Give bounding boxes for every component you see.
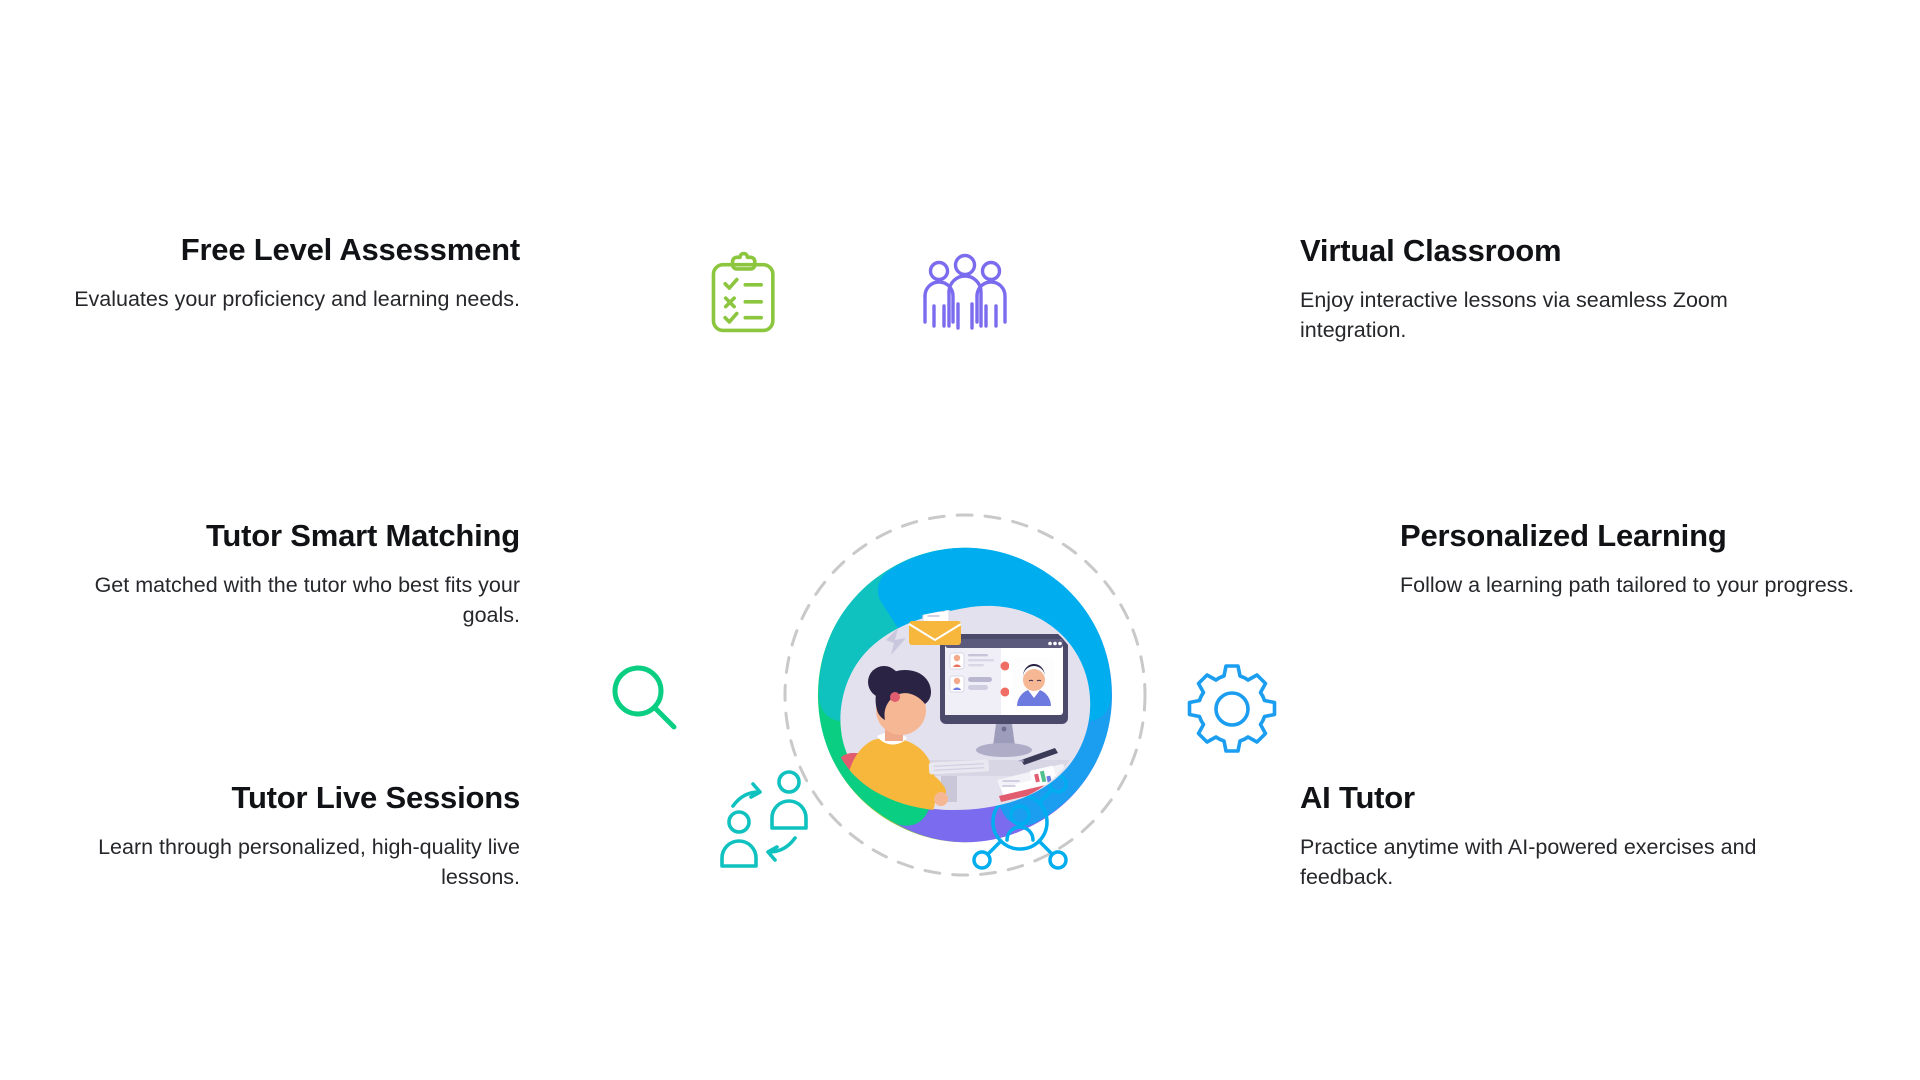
feature-block-free-level-assessment: Free Level Assessment Evaluates your pro… xyxy=(60,232,520,314)
feature-block-ai-tutor: AI Tutor Practice anytime with AI-powere… xyxy=(1300,780,1760,893)
feature-title-free-level-assessment: Free Level Assessment xyxy=(60,232,520,268)
feature-desc-personalized-learning: Follow a learning path tailored to your … xyxy=(1400,570,1860,601)
feature-wheel xyxy=(585,240,1345,900)
feature-desc-tutor-live-sessions: Learn through personalized, high-quality… xyxy=(60,832,520,893)
feature-block-tutor-smart-matching: Tutor Smart Matching Get matched with th… xyxy=(60,518,520,631)
chat-bubble-2 xyxy=(968,685,988,690)
feature-title-tutor-smart-matching: Tutor Smart Matching xyxy=(60,518,520,554)
notification-dot-2 xyxy=(1001,688,1010,697)
magnifying-glass-icon xyxy=(615,668,674,727)
feature-title-personalized-learning: Personalized Learning xyxy=(1400,518,1860,554)
window-dot-3 xyxy=(1058,642,1062,646)
feature-block-virtual-classroom: Virtual Classroom Enjoy interactive less… xyxy=(1300,233,1760,346)
notification-dot-1 xyxy=(1001,662,1010,671)
feature-block-personalized-learning: Personalized Learning Follow a learning … xyxy=(1400,518,1860,600)
infographic-stage: Free Level Assessment Evaluates your pro… xyxy=(0,0,1920,1080)
monitor-titlebar xyxy=(945,639,1063,648)
chat-line-3 xyxy=(968,664,984,666)
two-people-exchange-icon xyxy=(722,772,806,866)
boy-face xyxy=(1023,669,1045,691)
window-dot-2 xyxy=(1053,642,1057,646)
monitor-stand-base xyxy=(976,743,1032,757)
person-hand xyxy=(934,792,948,806)
feature-desc-free-level-assessment: Evaluates your proficiency and learning … xyxy=(60,284,520,315)
chat-line-2 xyxy=(968,659,994,661)
feature-title-virtual-classroom: Virtual Classroom xyxy=(1300,233,1760,269)
chat-line-1 xyxy=(968,654,988,656)
chat-bubble-1 xyxy=(968,677,992,682)
feature-desc-tutor-smart-matching: Get matched with the tutor who best fits… xyxy=(60,570,520,631)
window-dot-1 xyxy=(1048,642,1052,646)
clipboard-checklist-icon xyxy=(713,254,772,331)
hair-tie xyxy=(890,692,900,702)
monitor-power-led xyxy=(1002,727,1007,732)
feature-block-tutor-live-sessions: Tutor Live Sessions Learn through person… xyxy=(60,780,520,893)
gear-icon xyxy=(1190,666,1275,751)
feature-title-ai-tutor: AI Tutor xyxy=(1300,780,1760,816)
feature-desc-ai-tutor: Practice anytime with AI-powered exercis… xyxy=(1300,832,1760,893)
group-of-people-icon xyxy=(925,256,1005,329)
feature-desc-virtual-classroom: Enjoy interactive lessons via seamless Z… xyxy=(1300,285,1760,346)
feature-title-tutor-live-sessions: Tutor Live Sessions xyxy=(60,780,520,816)
